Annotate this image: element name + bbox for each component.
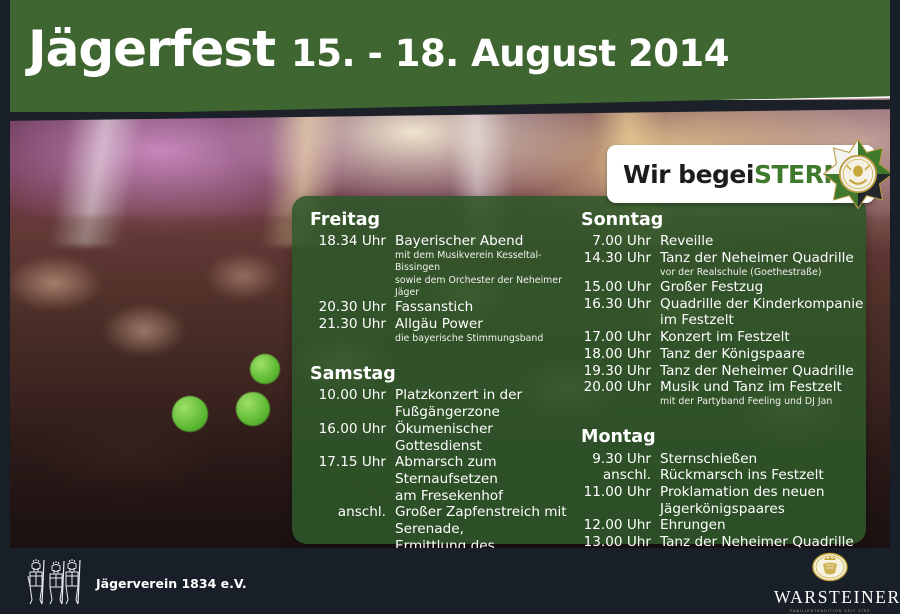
- schedule-entry-detail: Großer Festzug: [660, 279, 763, 296]
- schedule-entry-time: 17.00 Uhr: [581, 329, 660, 346]
- schedule-entry-detail: Quadrille der Kinderkompanie im Festzelt: [660, 296, 866, 329]
- schedule-entry-time: 18.00 Uhr: [581, 346, 660, 363]
- schedule-entry: 9.30 UhrSternschießen: [581, 451, 866, 468]
- schedule-entry-title: Abmarsch zum Sternaufsetzen: [395, 454, 498, 487]
- schedule-entry-title: Bayerischer Abend: [395, 233, 523, 249]
- schedule-entry: 12.00 UhrEhrungen: [581, 517, 866, 534]
- schedule-entry-title: Tanz der Neheimer Quadrille: [660, 250, 854, 266]
- schedule-entry-detail: Proklamation des neuen Jägerkönigspaares: [660, 484, 866, 517]
- schedule-entry-time: 17.15 Uhr: [310, 454, 395, 471]
- schedule-entry-detail: Sternschießen: [660, 451, 757, 468]
- schedule-entry: 20.00 UhrMusik und Tanz im Festzeltmit d…: [581, 379, 866, 408]
- schedule-entry-time: 11.00 Uhr: [581, 484, 660, 501]
- schedule-entry-time: 21.30 Uhr: [310, 316, 395, 333]
- schedule-entry-time: 18.34 Uhr: [310, 233, 395, 250]
- schedule-entry-time: 20.00 Uhr: [581, 379, 660, 396]
- schedule-entry-detail: Rückmarsch ins Festzelt: [660, 467, 824, 484]
- schedule-entry-detail: Allgäu Powerdie bayerische Stimmungsband: [395, 316, 543, 345]
- schedule-entry-title: Musik und Tanz im Festzelt: [660, 379, 842, 395]
- schedule-entry-detail: Ökumenischer Gottesdienst: [395, 421, 581, 454]
- schedule-entry-detail: Reveille: [660, 233, 713, 250]
- schedule-entry-detail: Tanz der Neheimer Quadrille: [660, 363, 854, 380]
- schedule-entry-note: mit der Partyband Feeling und DJ Jan: [660, 396, 842, 408]
- schedule-entry-detail: Musik und Tanz im Festzeltmit der Partyb…: [660, 379, 842, 408]
- schedule-entry: 21.30 UhrAllgäu Powerdie bayerische Stim…: [310, 316, 581, 345]
- schedule-entry: 17.00 UhrKonzert im Festzelt: [581, 329, 866, 346]
- schedule-entry-note: sowie dem Orchester der Neheimer Jäger: [395, 275, 581, 300]
- schedule-entry-time: 20.30 Uhr: [310, 299, 395, 316]
- header-title-group: Jägerfest 15. - 18. August 2014: [28, 24, 729, 74]
- warsteiner-crest-icon: [774, 552, 886, 587]
- green-balloon-icon: [172, 396, 208, 432]
- schedule-entry: 10.00 UhrPlatzkonzert in der Fußgängerzo…: [310, 387, 581, 420]
- schedule-entry: 19.30 UhrTanz der Neheimer Quadrille: [581, 363, 866, 380]
- schedule-entry-time: 19.30 Uhr: [581, 363, 660, 380]
- frame-right: [890, 0, 900, 614]
- schedule-day-heading: Freitag: [310, 210, 581, 230]
- schedule-entry-title: Allgäu Power: [395, 316, 483, 332]
- schedule-entry-note: mit dem Musikverein Kesseltal-Bissingen: [395, 250, 581, 275]
- jaegerverein-star-emblem-icon: [823, 139, 893, 209]
- sponsor-logo: WARSTEINER FAMILIENTRADITION SEIT 1753: [774, 552, 886, 613]
- schedule-entry-title: Großer Zapfenstreich mit Serenade,: [395, 504, 567, 537]
- page-title: Jägerfest: [28, 24, 275, 74]
- schedule-entry-title: Rückmarsch ins Festzelt: [660, 467, 824, 483]
- schedule-entry-note: die bayerische Stimmungsband: [395, 333, 543, 345]
- schedule-entry-time: 16.30 Uhr: [581, 296, 660, 313]
- schedule-entry: 7.00 UhrReveille: [581, 233, 866, 250]
- schedule-entry: 16.30 UhrQuadrille der Kinderkompanie im…: [581, 296, 866, 329]
- schedule-column-right: Sonntag7.00 UhrReveille14.30 UhrTanz der…: [581, 196, 866, 544]
- schedule-entry-time: 7.00 Uhr: [581, 233, 660, 250]
- schedule-entry-time: 10.00 Uhr: [310, 387, 395, 404]
- club-branding: Jägerverein 1834 e.V.: [24, 556, 247, 611]
- schedule-entry-time: 12.00 Uhr: [581, 517, 660, 534]
- schedule-column-left: Freitag18.34 UhrBayerischer Abendmit dem…: [292, 196, 581, 544]
- schedule-entry-title: Tanz der Königspaare: [660, 346, 805, 362]
- schedule-entry: 20.30 UhrFassanstich: [310, 299, 581, 316]
- schedule-day-heading: Montag: [581, 427, 866, 447]
- schedule-day-heading: Samstag: [310, 364, 581, 384]
- schedule-entry-title: Fassanstich: [395, 299, 473, 315]
- wir-begeistern-badge: Wir begeiSTERN: [607, 145, 875, 203]
- schedule-entry-title: Großer Festzug: [660, 279, 763, 295]
- schedule-entry: 15.00 UhrGroßer Festzug: [581, 279, 866, 296]
- sponsor-tagline: FAMILIENTRADITION SEIT 1753: [774, 609, 886, 613]
- schedule-entry: 18.00 UhrTanz der Königspaare: [581, 346, 866, 363]
- schedule-entry: 11.00 UhrProklamation des neuen Jägerkön…: [581, 484, 866, 517]
- schedule-entry-title: Proklamation des neuen Jägerkönigspaares: [660, 484, 824, 517]
- schedule-entry-detail: Bayerischer Abendmit dem Musikverein Kes…: [395, 233, 581, 299]
- schedule-entry-title: Platzkonzert in der Fußgängerzone: [395, 387, 522, 420]
- schedule-entry-title: Sternschießen: [660, 451, 757, 467]
- schedule-entry-time: anschl.: [581, 467, 660, 484]
- schedule-entry-title: Quadrille der Kinderkompanie im Festzelt: [660, 296, 863, 329]
- three-riflemen-icon: [24, 556, 82, 611]
- badge-slogan: Wir begeiSTERN: [623, 160, 844, 189]
- schedule-entry-detail: Abmarsch zum Sternaufsetzenam Fresekenho…: [395, 454, 581, 504]
- schedule-entry-title: Reveille: [660, 233, 713, 249]
- schedule-entry-detail: Fassanstich: [395, 299, 473, 316]
- schedule-entry-detail: Platzkonzert in der Fußgängerzone: [395, 387, 581, 420]
- schedule-entry-time: 9.30 Uhr: [581, 451, 660, 468]
- schedule-entry-title: Ökumenischer Gottesdienst: [395, 421, 493, 454]
- schedule-entry-time: anschl.: [310, 504, 395, 521]
- schedule-panel: Freitag18.34 UhrBayerischer Abendmit dem…: [292, 196, 866, 544]
- schedule-entry-time: 14.30 Uhr: [581, 250, 660, 267]
- schedule-entry: 14.30 UhrTanz der Neheimer Quadrillevor …: [581, 250, 866, 279]
- schedule-columns: Freitag18.34 UhrBayerischer Abendmit dem…: [292, 196, 866, 544]
- schedule-entry: 17.15 UhrAbmarsch zum Sternaufsetzenam F…: [310, 454, 581, 504]
- schedule-entry: anschl.Rückmarsch ins Festzelt: [581, 467, 866, 484]
- club-name: Jägerverein 1834 e.V.: [96, 576, 247, 591]
- schedule-entry-title: Konzert im Festzelt: [660, 329, 790, 345]
- footer-bar: Jägerverein 1834 e.V. WARSTEINER FAMILIE…: [0, 548, 900, 614]
- jaegerfest-poster: Jägerfest 15. - 18. August 2014 Wir bege…: [0, 0, 900, 614]
- schedule-entry-note: vor der Realschule (Goethestraße): [660, 267, 854, 279]
- frame-left: [0, 0, 10, 614]
- sponsor-name: WARSTEINER: [774, 589, 886, 607]
- green-balloon-icon: [250, 354, 280, 384]
- schedule-entry-title: Ehrungen: [660, 517, 726, 533]
- event-date-range: 15. - 18. August 2014: [291, 35, 729, 72]
- schedule-entry-time: 15.00 Uhr: [581, 279, 660, 296]
- schedule-entry-detail: Tanz der Neheimer Quadrillevor der Reals…: [660, 250, 854, 279]
- schedule-entry-continuation: am Fresekenhof: [395, 488, 581, 505]
- schedule-entry-detail: Tanz der Königspaare: [660, 346, 805, 363]
- schedule-entry-title: Tanz der Neheimer Quadrille: [660, 363, 854, 379]
- schedule-entry: 16.00 UhrÖkumenischer Gottesdienst: [310, 421, 581, 454]
- schedule-day-heading: Sonntag: [581, 210, 866, 230]
- schedule-entry-detail: Konzert im Festzelt: [660, 329, 790, 346]
- schedule-entry-detail: Ehrungen: [660, 517, 726, 534]
- schedule-entry: 18.34 UhrBayerischer Abendmit dem Musikv…: [310, 233, 581, 299]
- green-balloon-icon: [236, 392, 270, 426]
- schedule-entry-time: 16.00 Uhr: [310, 421, 395, 438]
- badge-slogan-dark: Wir begei: [623, 160, 754, 189]
